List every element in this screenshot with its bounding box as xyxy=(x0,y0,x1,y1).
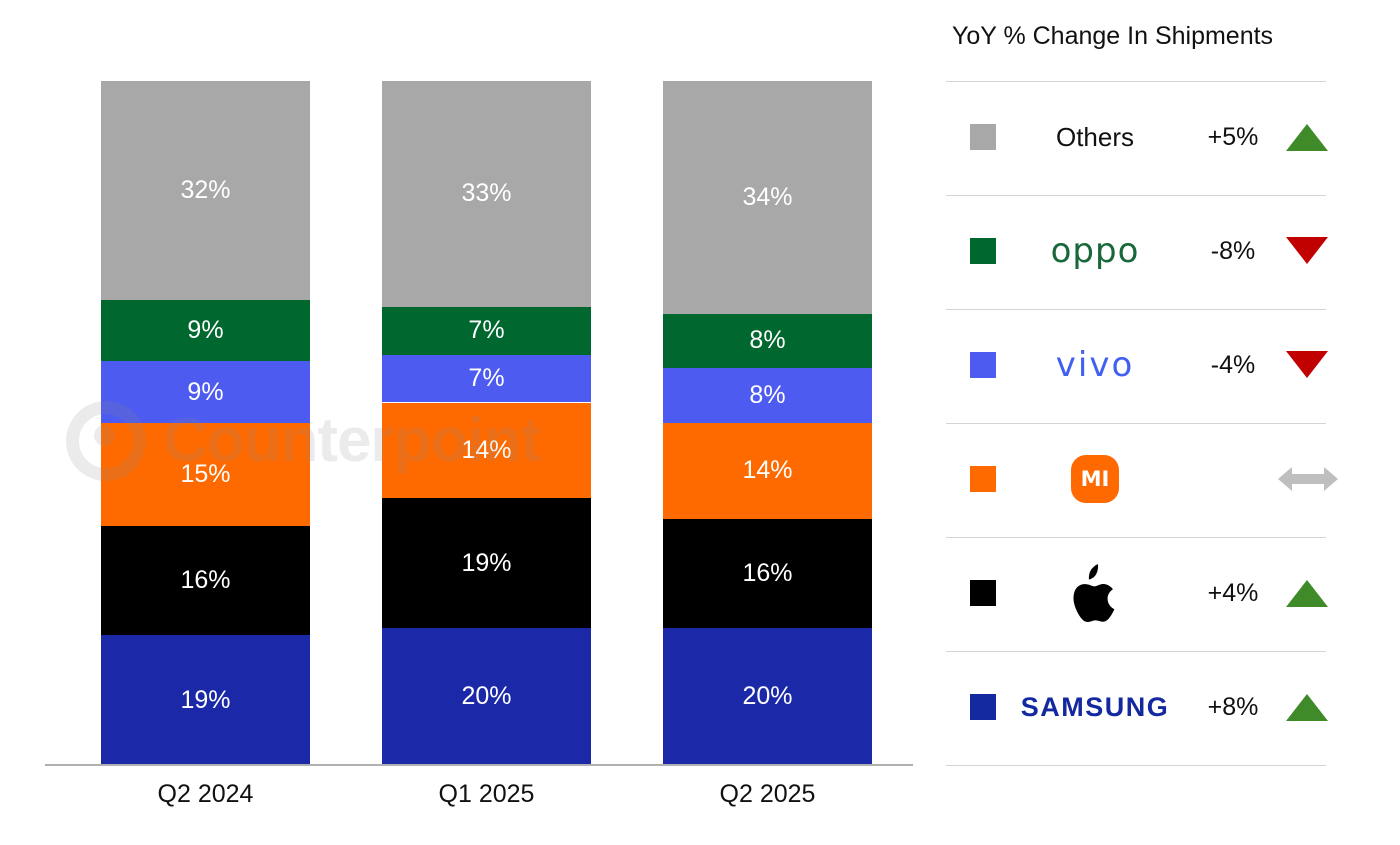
bar-segment: 19% xyxy=(382,498,591,628)
legend-divider xyxy=(946,651,1326,652)
legend-row-apple[interactable]: +4% xyxy=(940,537,1340,649)
legend-color-swatch xyxy=(970,580,996,606)
trend-down-icon xyxy=(1276,231,1338,271)
bar-segment: 16% xyxy=(663,519,872,628)
trend-up-icon xyxy=(1276,573,1338,613)
x-axis-label: Q2 2024 xyxy=(101,780,310,809)
legend-row-others[interactable]: Others+5% xyxy=(940,81,1340,193)
legend-change-value: -8% xyxy=(1190,237,1276,266)
oppo-logo-icon: oppo xyxy=(1000,221,1190,281)
bar-segment: 20% xyxy=(382,628,591,765)
legend-color-swatch xyxy=(970,466,996,492)
legend-row-xiaomi[interactable]: MI xyxy=(940,423,1340,535)
bar-column: 20%19%14%7%7%33% xyxy=(382,81,591,765)
bar-column: 20%16%14%8%8%34% xyxy=(663,81,872,765)
bar-segment: 8% xyxy=(663,368,872,423)
bar-segment: 14% xyxy=(382,403,591,499)
apple-logo-icon xyxy=(1000,563,1190,623)
legend-row-oppo[interactable]: oppo-8% xyxy=(940,195,1340,307)
legend-panel: YoY % Change In Shipments Others+5%oppo-… xyxy=(940,0,1400,845)
legend-color-swatch xyxy=(970,694,996,720)
bar-segment: 32% xyxy=(101,81,310,300)
trend-up-icon xyxy=(1276,687,1338,727)
legend-brand-text: Others xyxy=(1056,122,1134,153)
legend-divider xyxy=(946,423,1326,424)
legend-row-vivo[interactable]: vivo-4% xyxy=(940,309,1340,421)
bar-segment: 7% xyxy=(382,355,591,403)
legend-color-swatch xyxy=(970,124,996,150)
bar-segment: 16% xyxy=(101,526,310,635)
x-axis-label: Q1 2025 xyxy=(382,780,591,809)
x-axis-label: Q2 2025 xyxy=(663,780,872,809)
chart-page: Counterpoint 19%16%15%9%9%32%20%19%14%7%… xyxy=(0,0,1400,845)
bar-segment: 9% xyxy=(101,361,310,423)
bar-segment: 7% xyxy=(382,307,591,355)
legend-brand-label: Others xyxy=(1000,107,1190,167)
legend-title: YoY % Change In Shipments xyxy=(952,22,1273,51)
legend-divider xyxy=(946,81,1326,82)
stacked-bar-chart: Counterpoint 19%16%15%9%9%32%20%19%14%7%… xyxy=(0,0,930,845)
legend-divider xyxy=(946,309,1326,310)
samsung-logo-icon: SAMSUNG xyxy=(1000,677,1190,737)
legend-change-value: +8% xyxy=(1190,693,1276,722)
legend-change-value: +5% xyxy=(1190,123,1276,152)
bar-segment: 33% xyxy=(382,81,591,307)
bar-segment: 34% xyxy=(663,81,872,314)
legend-change-value: -4% xyxy=(1190,351,1276,380)
vivo-logo-icon: vivo xyxy=(1000,335,1190,395)
x-axis-line xyxy=(45,764,913,766)
legend-divider xyxy=(946,537,1326,538)
legend-color-swatch xyxy=(970,352,996,378)
bar-segment: 14% xyxy=(663,423,872,519)
bar-segment: 15% xyxy=(101,423,310,526)
legend-row-samsung[interactable]: SAMSUNG+8% xyxy=(940,651,1340,763)
bar-segment: 8% xyxy=(663,314,872,369)
trend-up-icon xyxy=(1276,117,1338,157)
trend-flat-icon xyxy=(1276,459,1340,499)
legend-change-value: +4% xyxy=(1190,579,1276,608)
legend-color-swatch xyxy=(970,238,996,264)
legend-divider xyxy=(946,195,1326,196)
bar-segment: 19% xyxy=(101,635,310,765)
legend-divider xyxy=(946,765,1326,766)
bar-segment: 20% xyxy=(663,628,872,765)
xiaomi-logo-icon: MI xyxy=(1000,449,1190,509)
trend-down-icon xyxy=(1276,345,1338,385)
bar-segment: 9% xyxy=(101,300,310,362)
bar-column: 19%16%15%9%9%32% xyxy=(101,81,310,765)
